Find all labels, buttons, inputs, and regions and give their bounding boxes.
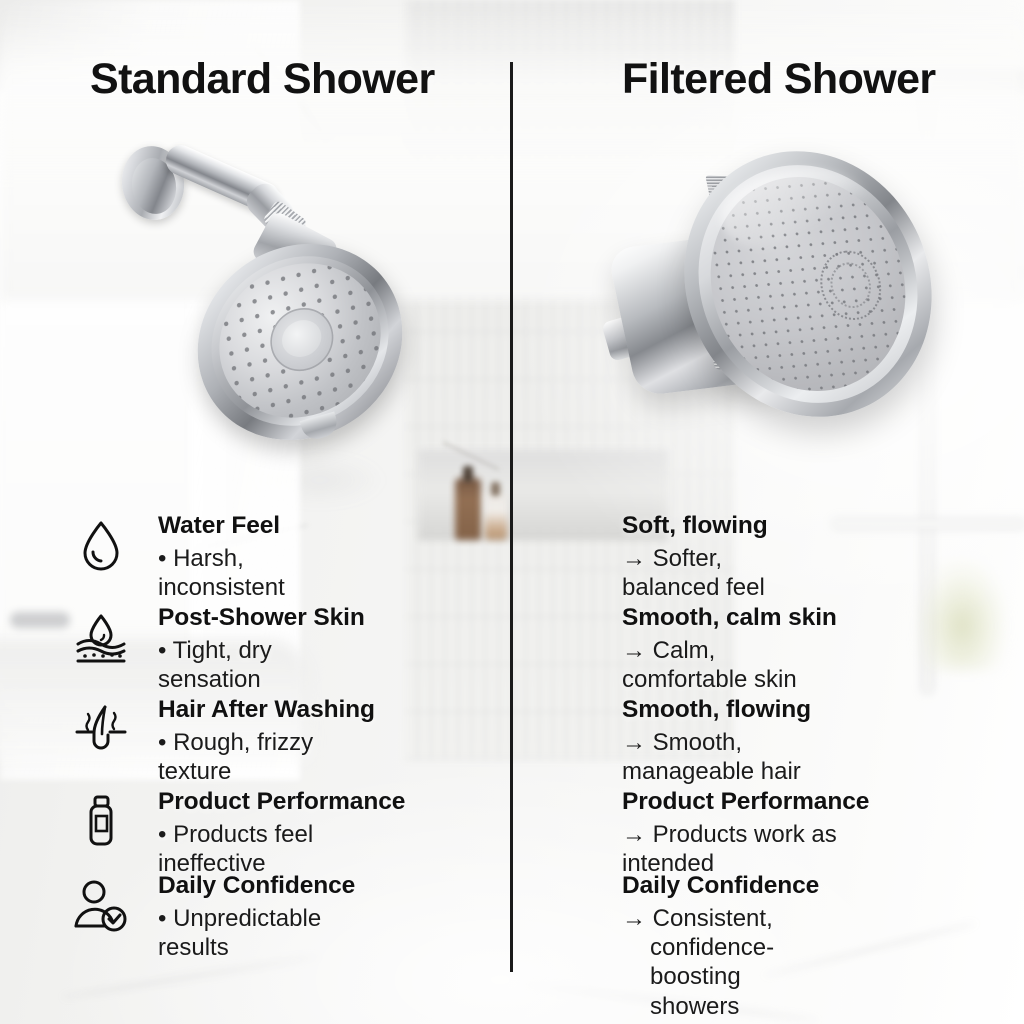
column-divider [510, 62, 513, 972]
feature-desc: → Products work as intended [622, 820, 869, 879]
filtered-shower-head-image [600, 140, 940, 440]
feature-desc-text: Unpredictable results [158, 905, 321, 961]
person-check-icon [72, 876, 130, 934]
water-drop-icon [72, 516, 130, 574]
bullet-marker: • [158, 729, 166, 756]
product-bottle-icon [72, 792, 130, 850]
feature-desc: • Harsh, inconsistent [158, 544, 285, 603]
arrow-marker: → [622, 545, 646, 572]
feature-desc: • Rough, frizzy texture [158, 728, 375, 787]
feature-desc: • Unpredictable results [158, 904, 355, 963]
right-column-title: Filtered Shower [622, 55, 936, 104]
bullet-marker: • [158, 821, 166, 848]
bullet-marker: • [158, 905, 166, 932]
left-column-title: Standard Shower [90, 55, 435, 104]
feature-desc-text: Calm, comfortable skin [622, 637, 797, 693]
standard-shower-head-image [118, 128, 418, 438]
comparison-infographic: Standard Shower Filtered Shower [0, 0, 1024, 1024]
feature-desc: → Softer, balanced feel [622, 544, 768, 603]
hair-follicle-icon [72, 700, 130, 758]
arrow-marker: → [622, 821, 646, 848]
feature-desc-text: Smooth, manageable hair [622, 729, 801, 785]
feature-desc: → Calm, comfortable skin [622, 636, 837, 695]
feature-title: Product Performance [622, 788, 869, 817]
feature-title: Hair After Washing [158, 696, 375, 725]
feature-title: Daily Confidence [158, 872, 355, 901]
feature-desc: → Consistent, confidence-boosting shower… [622, 904, 819, 1021]
feature-title: Product Performance [158, 788, 405, 817]
feature-desc-text: Harsh, inconsistent [158, 545, 285, 601]
feature-desc-text: Products work as intended [622, 821, 837, 877]
feature-desc: • Tight, dry sensation [158, 636, 365, 695]
arrow-marker: → [622, 637, 646, 664]
feature-title: Water Feel [158, 512, 285, 541]
skin-layers-droplet-icon [72, 608, 130, 666]
arrow-marker: → [622, 729, 646, 756]
feature-desc: • Products feel ineffective [158, 820, 405, 879]
bullet-marker: • [158, 545, 166, 572]
feature-desc-text: Products feel ineffective [158, 821, 313, 877]
feature-desc-text: Tight, dry sensation [158, 637, 272, 693]
arrow-marker: → [622, 905, 646, 932]
feature-title: Smooth, calm skin [622, 604, 837, 633]
feature-desc-text: Rough, frizzy texture [158, 729, 313, 785]
feature-desc-text: Consistent, confidence-boosting showers [650, 905, 774, 1020]
feature-title: Soft, flowing [622, 512, 768, 541]
bullet-marker: • [158, 637, 166, 664]
feature-title: Daily Confidence [622, 872, 819, 901]
feature-desc: → Smooth, manageable hair [622, 728, 811, 787]
feature-title: Post-Shower Skin [158, 604, 365, 633]
feature-title: Smooth, flowing [622, 696, 811, 725]
